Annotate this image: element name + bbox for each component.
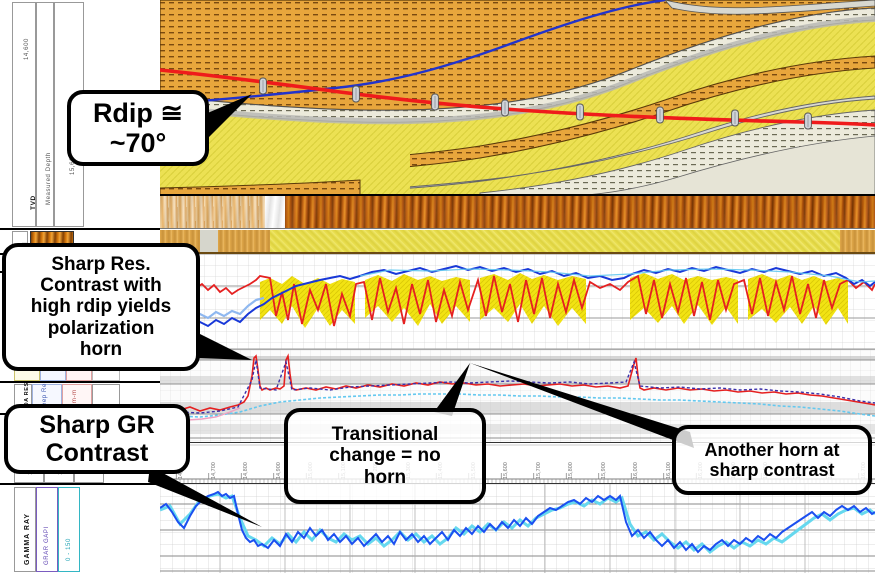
callout-sharp-gr-line2: Contrast	[16, 439, 178, 467]
callout-sharp-gr-line1: Sharp GR	[16, 411, 178, 439]
depth-tick-label: 14,900	[276, 462, 282, 479]
callout-transitional-line2: change = no	[296, 445, 474, 466]
cross-section-svg	[160, 0, 875, 196]
callout-rdip-line1: Rdip ≅	[79, 98, 197, 128]
callout-sharp-res[interactable]: Sharp Res. Contrast with high rdip yield…	[2, 243, 200, 371]
xsection-scale-label: 14,600	[24, 38, 30, 60]
litho-seg-3	[218, 230, 270, 254]
xsection-sub-label: Measured Depth	[46, 152, 52, 205]
lithology-track[interactable]	[160, 230, 875, 254]
callout-sharp-res-line3: high rdip yields	[14, 296, 188, 317]
gamma-ray-track[interactable]	[160, 484, 875, 573]
resistivity-porosity-track[interactable]	[160, 254, 875, 350]
xsection-tvd-label: TVD	[30, 195, 37, 210]
callout-sharp-gr[interactable]: Sharp GR Contrast	[4, 404, 190, 474]
litho-seg-2	[200, 230, 218, 254]
borehole-image-log[interactable]	[160, 196, 875, 229]
gammaray-range-label: 0 - 150	[66, 538, 72, 561]
gammaray-units-label: GRAR GAPI	[44, 526, 50, 565]
depth-tick-label: 15,600	[503, 462, 509, 479]
depth-tick-label: 14,700	[211, 462, 217, 479]
depth-tick-label: 16,100	[666, 462, 672, 479]
callout-transitional[interactable]: Transitional change = no horn	[284, 408, 486, 504]
litho-seg-sand	[270, 230, 840, 254]
res-curves-svg	[160, 254, 875, 350]
callout-sharp-res-line4: polarization	[14, 318, 188, 339]
callout-another-horn[interactable]: Another horn at sharp contrast	[672, 425, 872, 495]
depth-tick-label: 14,800	[243, 462, 249, 479]
depth-tick-label: 15,700	[536, 462, 542, 479]
callout-transitional-line3: horn	[296, 467, 474, 488]
callout-another-horn-line2: sharp contrast	[684, 460, 860, 480]
callout-sharp-res-line5: horn	[14, 339, 188, 360]
callout-rdip[interactable]: Rdip ≅ ~70°	[67, 90, 209, 166]
geosteering-screenshot: 14,600 TVD Measured Depth 15,600 DI LITH…	[0, 0, 875, 573]
imagelog-texture-overlay	[160, 196, 875, 229]
gamma-ray-svg	[160, 484, 875, 573]
callout-sharp-res-line1: Sharp Res.	[14, 254, 188, 275]
track-header-gammaray: GAMMA RAY GRAR GAPI 0 - 150	[0, 484, 160, 573]
callout-transitional-line1: Transitional	[296, 424, 474, 445]
gammaray-label: GAMMA RAY	[24, 513, 31, 565]
depth-tick-label: 15,800	[568, 462, 574, 479]
depth-tick-label: 16,000	[633, 462, 639, 479]
structural-cross-section[interactable]	[160, 0, 875, 196]
litho-seg-4	[840, 230, 875, 254]
callout-rdip-line2: ~70°	[79, 128, 197, 158]
depth-tick-label: 15,900	[601, 462, 607, 479]
callout-sharp-res-line2: Contrast with	[14, 275, 188, 296]
callout-another-horn-line1: Another horn at	[684, 440, 860, 460]
